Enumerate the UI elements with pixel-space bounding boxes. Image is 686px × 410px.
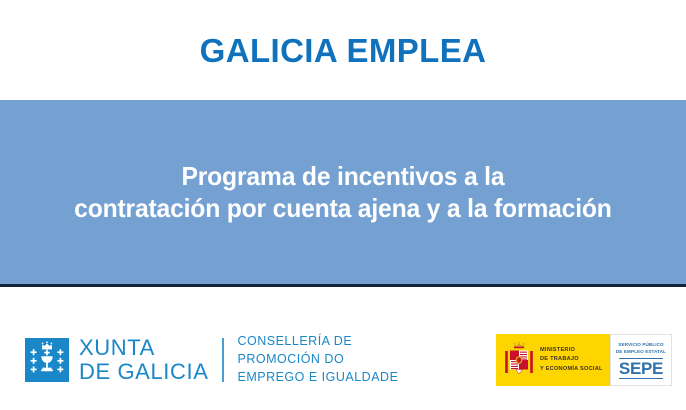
sepe-sub-line-1: SERVICIO PÚBLICO xyxy=(616,342,666,349)
conselleria-line-2: PROMOCIÓN DO xyxy=(237,351,398,369)
sepe-sub-line-2: DE EMPLEO ESTATAL xyxy=(616,349,666,356)
sepe-logo: SERVICIO PÚBLICO DE EMPLEO ESTATAL SEPE xyxy=(610,334,672,386)
poster-page: GALICIA EMPLEA Programa de incentivos a … xyxy=(0,0,686,410)
xunta-wordmark-line-1: XUNTA xyxy=(79,336,208,360)
ministerio-logo: MINISTERIO DE TRABAJO Y ECONOMÍA SOCIAL xyxy=(496,334,610,386)
ministerio-name: MINISTERIO DE TRABAJO Y ECONOMÍA SOCIAL xyxy=(540,346,603,373)
banner-text-block: Programa de incentivos a la contratación… xyxy=(61,160,625,225)
escudo-de-espana-icon xyxy=(504,341,534,379)
conselleria-line-1: CONSELLERÍA DE xyxy=(237,333,398,351)
sepe-full-name: SERVICIO PÚBLICO DE EMPLEO ESTATAL xyxy=(616,342,666,356)
conselleria-line-3: EMPREGO E IGUALDADE xyxy=(237,369,398,387)
conselleria-name: CONSELLERÍA DE PROMOCIÓN DO EMPREGO E IG… xyxy=(237,333,398,386)
program-banner: Programa de incentivos a la contratación… xyxy=(0,100,686,287)
ministerio-line-2: DE TRABAJO xyxy=(540,355,603,364)
logo-divider xyxy=(222,338,224,382)
ministerio-line-1: MINISTERIO xyxy=(540,346,603,355)
banner-line-2: contratación por cuenta ajena y a la for… xyxy=(74,192,612,225)
footer: XUNTA DE GALICIA CONSELLERÍA DE PROMOCIÓ… xyxy=(0,290,686,410)
xunta-coat-of-arms-icon xyxy=(25,338,69,382)
xunta-wordmark: XUNTA DE GALICIA xyxy=(79,336,208,384)
sepe-wordmark: SEPE xyxy=(619,358,663,379)
footer-logos-row: XUNTA DE GALICIA CONSELLERÍA DE PROMOCIÓ… xyxy=(0,290,686,410)
xunta-de-galicia-lockup: XUNTA DE GALICIA CONSELLERÍA DE PROMOCIÓ… xyxy=(25,333,398,386)
xunta-wordmark-line-2: DE GALICIA xyxy=(79,360,208,384)
ministerio-line-3: Y ECONOMÍA SOCIAL xyxy=(540,365,603,374)
page-title: GALICIA EMPLEA xyxy=(200,34,487,67)
banner-line-1: Programa de incentivos a la xyxy=(74,160,612,193)
government-logos-lockup: MINISTERIO DE TRABAJO Y ECONOMÍA SOCIAL … xyxy=(496,334,672,386)
header: GALICIA EMPLEA xyxy=(0,0,686,100)
